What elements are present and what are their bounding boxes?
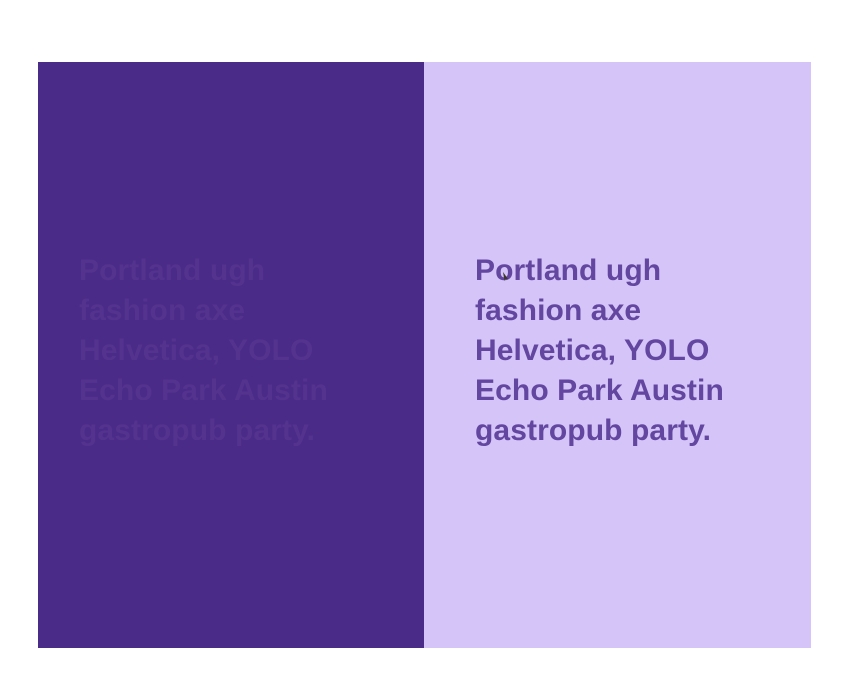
panel-low-contrast: Portland ugh fashion axe Helvetica, YOLO… [38,62,424,648]
sample-text-high-contrast: Portland ugh fashion axe Helvetica, YOLO… [475,251,747,451]
contrast-comparison: Portland ugh fashion axe Helvetica, YOLO… [38,62,811,648]
panel-high-contrast: Portland ugh fashion axe Helvetica, YOLO… [424,62,811,648]
sample-text-low-contrast: Portland ugh fashion axe Helvetica, YOLO… [79,251,351,451]
